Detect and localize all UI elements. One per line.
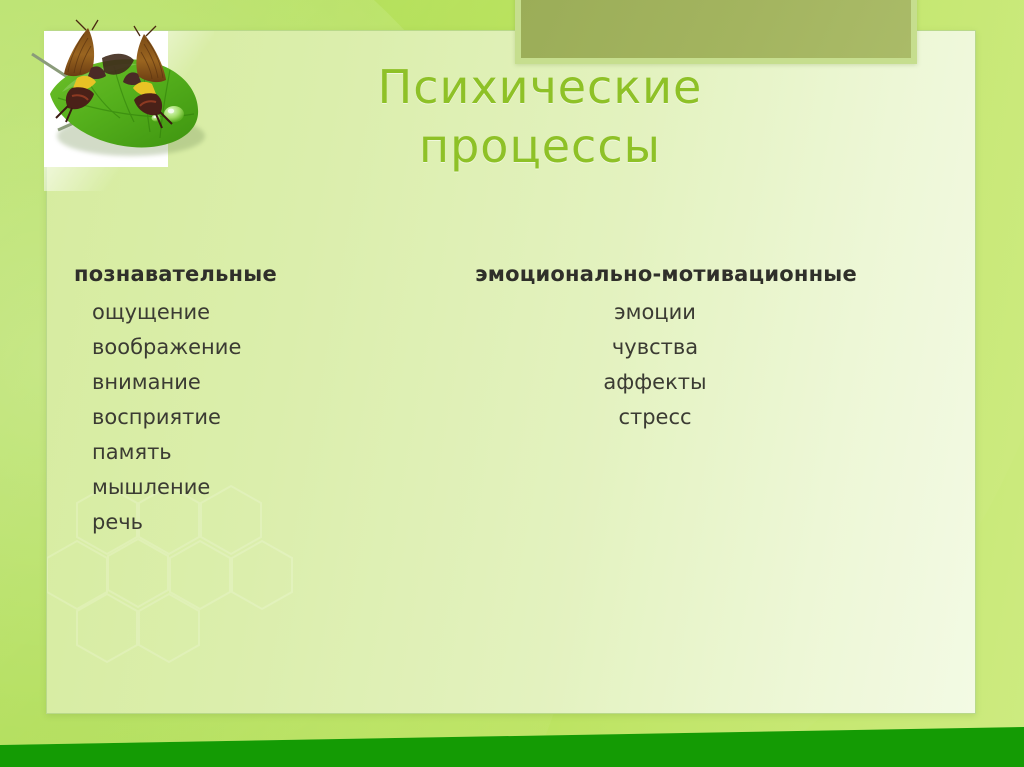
list-item: чувства xyxy=(386,337,946,372)
column-cognitive-list: ощущение воображение внимание восприятие… xyxy=(60,302,386,547)
title-line-2: процессы xyxy=(190,117,890,176)
list-item: внимание xyxy=(92,372,386,407)
bottom-band xyxy=(0,727,1024,767)
column-emotional-motivational-list: эмоции чувства аффекты стресс xyxy=(386,302,946,442)
list-item: речь xyxy=(92,512,386,547)
column-cognitive: познавательные ощущение воображение вним… xyxy=(46,262,386,547)
list-item: эмоции xyxy=(386,302,946,337)
page-title: Психические процессы xyxy=(190,58,890,176)
list-item: ощущение xyxy=(92,302,386,337)
list-item: аффекты xyxy=(386,372,946,407)
column-cognitive-heading: познавательные xyxy=(60,262,386,286)
list-item: стресс xyxy=(386,407,946,442)
decorative-banner-rectangle xyxy=(515,0,917,64)
list-item: воображение xyxy=(92,337,386,372)
list-item: восприятие xyxy=(92,407,386,442)
columns-container: познавательные ощущение воображение вним… xyxy=(46,262,976,547)
list-item: мышление xyxy=(92,477,386,512)
slide: Психические процессы познавательные ощущ… xyxy=(0,0,1024,767)
column-emotional-motivational: эмоционально-мотивационные эмоции чувств… xyxy=(386,262,946,547)
column-emotional-motivational-heading: эмоционально-мотивационные xyxy=(386,262,946,286)
list-item: память xyxy=(92,442,386,477)
title-line-1: Психические xyxy=(190,58,890,117)
